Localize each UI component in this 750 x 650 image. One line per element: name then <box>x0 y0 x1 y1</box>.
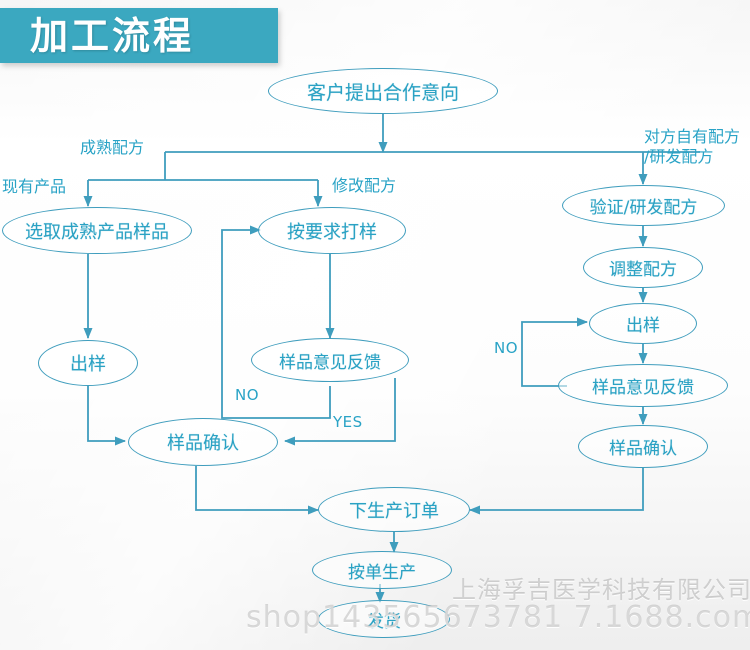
node-feedback-middle[interactable]: 样品意见反馈 <box>251 338 409 382</box>
node-confirm-right[interactable]: 样品确认 <box>578 425 708 468</box>
edge-label-modify-formula-text: 修改配方 <box>332 176 396 195</box>
node-ship-label: 发货 <box>367 607 401 632</box>
node-confirm-left[interactable]: 样品确认 <box>128 418 278 466</box>
edge-label-no-left-text: NO <box>235 386 259 404</box>
node-produce-label: 按单生产 <box>348 558 416 583</box>
node-feedback-right[interactable]: 样品意见反馈 <box>558 364 728 407</box>
edge-label-existing-product: 现有产品 <box>2 177 66 196</box>
node-feedback-right-label: 样品意见反馈 <box>592 373 694 398</box>
node-place-order[interactable]: 下生产订单 <box>318 487 470 532</box>
edge-label-own-formula-line2-text: /研发配方 <box>644 147 713 166</box>
edge-label-yes-left: YES <box>333 413 363 432</box>
edge-label-own-formula-line1: 对方自有配方 <box>644 127 740 146</box>
node-out-sample-right[interactable]: 出样 <box>589 303 697 344</box>
node-produce[interactable]: 按单生产 <box>312 551 452 589</box>
node-start-label: 客户提出合作意向 <box>307 78 459 105</box>
edge-label-no-left: NO <box>235 386 259 405</box>
node-verify-develop[interactable]: 验证/研发配方 <box>562 185 725 226</box>
edge-label-no-right: NO <box>494 339 518 358</box>
edge-label-own-formula-line1-text: 对方自有配方 <box>644 127 740 146</box>
node-verify-develop-label: 验证/研发配方 <box>590 193 698 218</box>
node-make-sample[interactable]: 按要求打样 <box>258 207 406 254</box>
node-ship[interactable]: 发货 <box>318 600 450 638</box>
node-out-sample-left-label: 出样 <box>70 350 106 376</box>
node-out-sample-right-label: 出样 <box>626 311 660 336</box>
wire-out-to-confirm <box>88 386 125 441</box>
edge-label-no-right-text: NO <box>494 339 518 357</box>
node-start[interactable]: 客户提出合作意向 <box>268 68 498 114</box>
node-feedback-middle-label: 样品意见反馈 <box>279 348 381 373</box>
node-place-order-label: 下生产订单 <box>349 497 439 523</box>
node-adjust-formula-label: 调整配方 <box>609 255 677 280</box>
node-out-sample-left[interactable]: 出样 <box>38 340 138 386</box>
edge-label-yes-left-text: YES <box>333 413 363 431</box>
flowchart-page: 加工流程 <box>0 0 750 650</box>
node-pick-sample-label: 选取成熟产品样品 <box>25 218 169 244</box>
edge-label-existing-product-text: 现有产品 <box>2 177 66 196</box>
node-confirm-right-label: 样品确认 <box>609 434 677 459</box>
title-banner: 加工流程 <box>0 8 278 63</box>
edge-label-mature-formula-text: 成熟配方 <box>80 138 144 157</box>
node-make-sample-label: 按要求打样 <box>287 218 377 244</box>
watermark-company: 上海孚吉医学科技有限公司 <box>452 570 750 605</box>
edge-label-modify-formula: 修改配方 <box>332 176 396 195</box>
page-title: 加工流程 <box>30 17 194 55</box>
wire-confirm-to-order-left <box>196 466 318 510</box>
edge-label-mature-formula: 成熟配方 <box>80 138 144 157</box>
node-adjust-formula[interactable]: 调整配方 <box>583 247 703 288</box>
node-pick-sample[interactable]: 选取成熟产品样品 <box>2 207 192 254</box>
node-confirm-left-label: 样品确认 <box>167 429 239 455</box>
edge-label-own-formula-line2: /研发配方 <box>644 147 713 166</box>
wire-confirm-to-order-right <box>470 468 643 510</box>
